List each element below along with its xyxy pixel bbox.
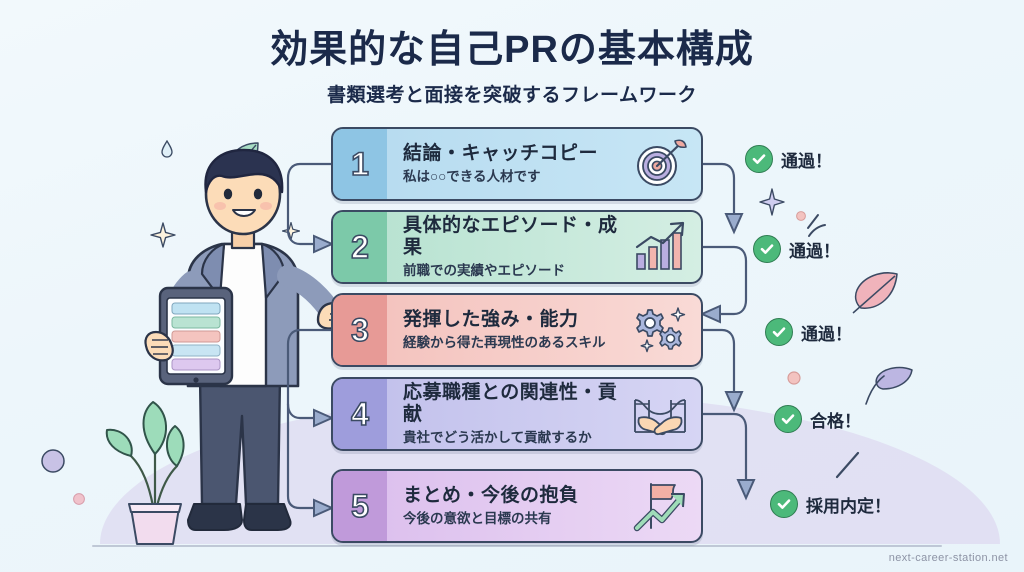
status-badge-3: 通過！ xyxy=(765,318,852,346)
check-circle-icon xyxy=(770,490,798,518)
status-badge-4: 合格！ xyxy=(774,405,861,433)
status-badge-label: 採用内定！ xyxy=(806,492,891,517)
slash-line-icon xyxy=(830,448,864,482)
circle-purple-icon xyxy=(40,448,66,474)
dot-pink-icon xyxy=(795,210,807,222)
step-number-4: 4 xyxy=(333,379,387,449)
step-subtitle-3: 経験から得た再現性のあるスキル xyxy=(403,335,606,351)
step-title-4: 応募職種との関連性・貢献 xyxy=(403,382,623,426)
presenter-person-illustration xyxy=(128,148,358,548)
status-badge-label: 通過！ xyxy=(781,147,832,172)
watermark: next-career-station.net xyxy=(889,552,1008,564)
status-badge-label: 合格！ xyxy=(810,407,861,432)
step-card-2[interactable]: 2 具体的なエピソード・成果 前職での実績やエピソード xyxy=(331,210,703,284)
bar-chart-growth-icon xyxy=(631,221,689,273)
leaf-pink-icon xyxy=(845,268,901,318)
step-card-3[interactable]: 3 発揮した強み・能力 経験から得た再現性のあるスキル xyxy=(331,293,703,367)
sparkle-purple-icon xyxy=(759,188,785,216)
status-badge-label: 通過！ xyxy=(789,237,840,262)
bridge-handshake-icon xyxy=(631,388,689,440)
check-circle-icon xyxy=(745,145,773,173)
step-card-5[interactable]: 5 まとめ・今後の抱負 今後の意欲と目標の共有 xyxy=(331,469,703,543)
page-title: 効果的な自己PRの基本構成 xyxy=(0,18,1024,73)
step-subtitle-4: 貴社でどう活かして貢献するか xyxy=(403,430,623,446)
infographic-canvas: 効果的な自己PRの基本構成 書類選考と面接を突破するフレームワーク xyxy=(0,0,1024,572)
step-number-3: 3 xyxy=(333,295,387,365)
step-title-1: 結論・キャッチコピー xyxy=(403,143,598,165)
leaf-purple-icon xyxy=(854,364,916,408)
check-circle-icon xyxy=(774,405,802,433)
step-subtitle-5: 今後の意欲と目標の共有 xyxy=(403,511,579,527)
step-title-3: 発揮した強み・能力 xyxy=(403,309,606,331)
status-badge-label: 通過！ xyxy=(801,320,852,345)
target-icon xyxy=(631,138,689,190)
step-card-1[interactable]: 1 結論・キャッチコピー 私は○○できる人材です xyxy=(331,127,703,201)
check-circle-icon xyxy=(765,318,793,346)
gears-sparkle-icon xyxy=(631,304,689,356)
step-subtitle-2: 前職での実績やエピソード xyxy=(403,263,623,279)
step-number-2: 2 xyxy=(333,212,387,282)
step-subtitle-1: 私は○○できる人材です xyxy=(403,169,598,185)
step-card-4[interactable]: 4 応募職種との関連性・貢献 貴社でどう活かして貢献するか xyxy=(331,377,703,451)
status-badge-1: 通過！ xyxy=(745,145,832,173)
status-badge-2: 通過！ xyxy=(753,235,840,263)
flag-growth-arrow-icon xyxy=(631,480,689,532)
step-title-2: 具体的なエピソード・成果 xyxy=(403,215,623,259)
step-title-5: まとめ・今後の抱負 xyxy=(403,485,579,507)
dot-rose-icon xyxy=(72,492,86,506)
step-number-1: 1 xyxy=(333,129,387,199)
status-badge-5: 採用内定！ xyxy=(770,490,891,518)
page-subtitle: 書類選考と面接を突破するフレームワーク xyxy=(0,80,1024,107)
dot-pink-small-icon xyxy=(786,370,802,386)
step-number-5: 5 xyxy=(333,471,387,541)
check-circle-icon xyxy=(753,235,781,263)
